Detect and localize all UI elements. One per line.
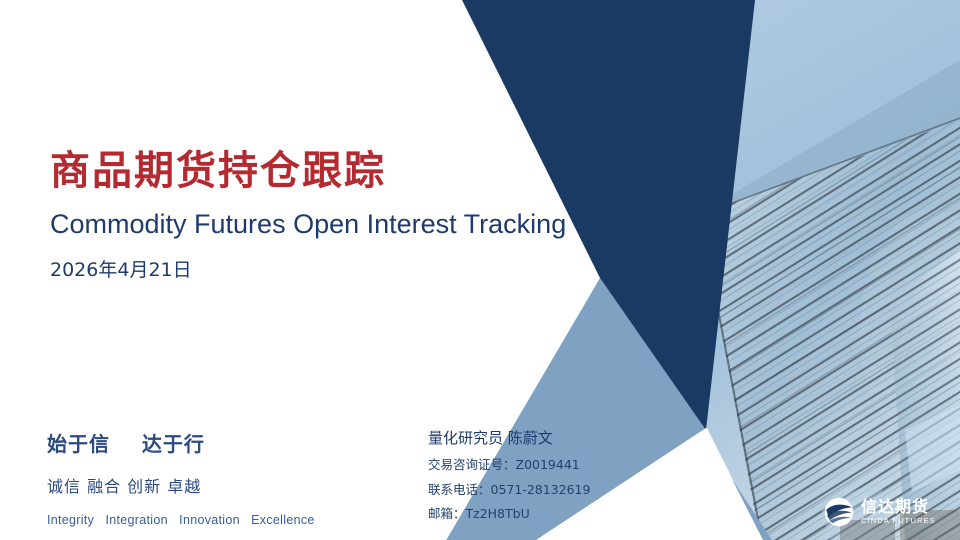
page-title-english: Commodity Futures Open Interest Tracking	[50, 208, 670, 240]
logo-text: 信达期货 CINDA FUTURES	[861, 499, 936, 525]
contact-block: 量化研究员 陈蔚文 交易咨询证号：Z0019441 联系电话：0571-2813…	[428, 431, 688, 533]
contact-phone: 联系电话：0571-28132619	[428, 484, 688, 497]
report-date: 2026年4月21日	[50, 259, 670, 282]
contact-email: 邮箱：Tz2H8TbU	[428, 508, 688, 521]
slogan-block: 始于信 达于行 诚信 融合 创新 卓越 Integrity Integratio…	[47, 428, 407, 527]
license-number: 交易咨询证号：Z0019441	[428, 459, 688, 472]
title-slide: 商品期货持仓跟踪 Commodity Futures Open Interest…	[0, 0, 960, 540]
company-logo: 信达期货 CINDA FUTURES	[824, 494, 952, 530]
analyst-name: 量化研究员 陈蔚文	[428, 431, 688, 446]
page-title-chinese: 商品期货持仓跟踪	[50, 148, 670, 194]
slogan-values-chinese: 诚信 融合 创新 卓越	[47, 473, 407, 497]
logo-name-english: CINDA FUTURES	[861, 517, 936, 525]
slogan-values-english: Integrity Integration Innovation Excelle…	[47, 513, 407, 527]
cinda-swoosh-icon	[824, 497, 854, 527]
slogan-primary: 始于信 达于行	[47, 428, 407, 457]
logo-name-chinese: 信达期货	[861, 499, 936, 515]
title-block: 商品期货持仓跟踪 Commodity Futures Open Interest…	[50, 148, 670, 282]
